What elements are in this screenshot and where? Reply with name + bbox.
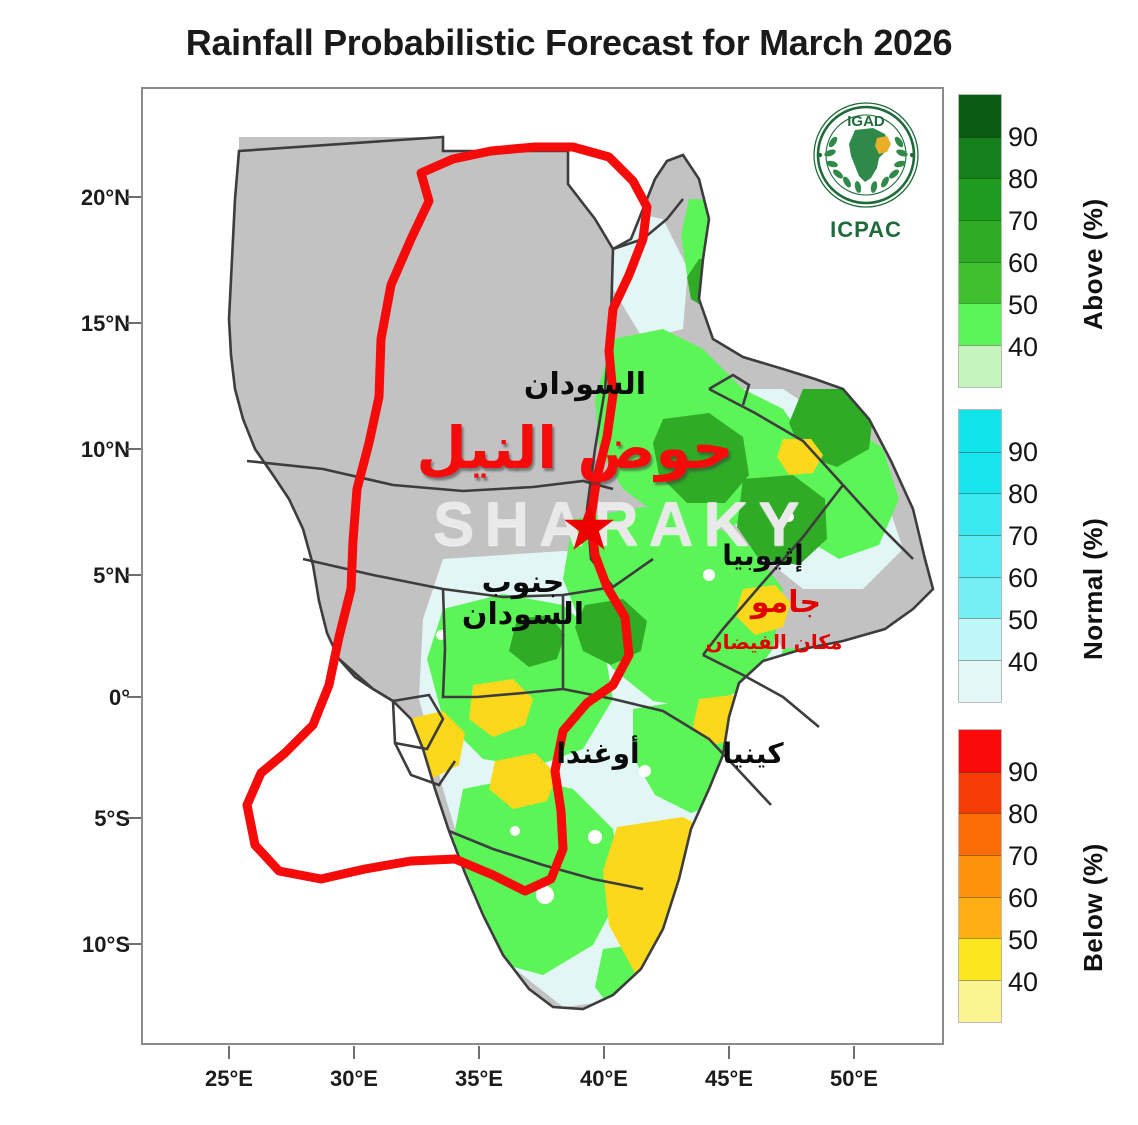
- page-title: Rainfall Probabilistic Forecast for Marc…: [0, 22, 1138, 64]
- y-tick-mark-0: [127, 696, 141, 698]
- x-tick-label-40e: 40°E: [544, 1066, 664, 1092]
- colorbar-normal-band: [959, 660, 1001, 702]
- colorbar-normal-band: [959, 493, 1001, 535]
- x-tick-mark-35e: [478, 1046, 480, 1059]
- x-tick-mark-30e: [353, 1046, 355, 1059]
- colorbar-normal: [958, 409, 1002, 703]
- colorbar-normal-band: [959, 577, 1001, 619]
- x-tick-label-45e: 45°E: [669, 1066, 789, 1092]
- y-tick-label-20n: 20°N: [20, 185, 130, 211]
- colorbar-below-ticks: 90 80 70 60 50 40: [1008, 729, 1068, 1021]
- flood-location-star-icon: [563, 501, 615, 553]
- colorbar-above-tick-80: 80: [1008, 166, 1038, 193]
- colorbar-normal-band: [959, 535, 1001, 577]
- x-tick-mark-45e: [728, 1046, 730, 1059]
- colorbar-above-tick-60: 60: [1008, 250, 1038, 277]
- colorbar-above-ticks: 90 80 70 60 50 40: [1008, 94, 1068, 386]
- y-tick-mark-5n: [127, 574, 141, 576]
- colorbar-above-tick-90: 90: [1008, 124, 1038, 151]
- colorbar-above-tick-50: 50: [1008, 292, 1038, 319]
- colorbar-normal-tick-40: 40: [1008, 649, 1038, 676]
- colorbar-below-tick-50: 50: [1008, 927, 1038, 954]
- colorbar-above-tick-40: 40: [1008, 334, 1038, 361]
- x-tick-label-50e: 50°E: [794, 1066, 914, 1092]
- x-tick-label-35e: 35°E: [419, 1066, 539, 1092]
- watermark-sharaky: SHARAKY: [433, 489, 810, 560]
- igad-seal-icon: IGAD: [811, 100, 921, 210]
- colorbar-normal-title: Normal (%): [1078, 420, 1109, 660]
- colorbar-below-title: Below (%): [1078, 742, 1109, 972]
- colorbar-below-band: [959, 855, 1001, 897]
- colorbar-above-band: [959, 95, 1001, 137]
- colorbar-normal-tick-60: 60: [1008, 565, 1038, 592]
- colorbar-below: [958, 729, 1002, 1023]
- colorbar-below-tick-90: 90: [1008, 759, 1038, 786]
- colorbar-below-tick-70: 70: [1008, 843, 1038, 870]
- y-tick-label-15n: 15°N: [20, 311, 130, 337]
- colorbar-normal-tick-70: 70: [1008, 523, 1038, 550]
- colorbar-below-band: [959, 938, 1001, 980]
- colorbar-above-band: [959, 262, 1001, 304]
- colorbar-above-band: [959, 345, 1001, 387]
- colorbar-normal-ticks: 90 80 70 60 50 40: [1008, 409, 1068, 701]
- colorbar-above-tick-70: 70: [1008, 208, 1038, 235]
- colorbar-below-band: [959, 772, 1001, 814]
- colorbar-normal-band: [959, 618, 1001, 660]
- colorbar-above-title: Above (%): [1078, 110, 1109, 330]
- colorbar-above-band: [959, 178, 1001, 220]
- colorbar-above-band: [959, 137, 1001, 179]
- logo-label-icpac: ICPAC: [806, 217, 926, 243]
- colorbar-normal-tick-50: 50: [1008, 607, 1038, 634]
- colorbar-below-tick-80: 80: [1008, 801, 1038, 828]
- svg-text:IGAD: IGAD: [847, 113, 885, 130]
- x-tick-label-30e: 30°E: [294, 1066, 414, 1092]
- y-tick-label-5n: 5°N: [20, 563, 130, 589]
- colorbar-below-band: [959, 897, 1001, 939]
- y-tick-mark-10n: [127, 448, 141, 450]
- colorbar-below-tick-40: 40: [1008, 969, 1038, 996]
- colorbar-normal-band: [959, 452, 1001, 494]
- colorbar-below-band: [959, 730, 1001, 772]
- y-tick-mark-5s: [127, 817, 141, 819]
- colorbar-above-band: [959, 303, 1001, 345]
- igad-icpac-logo: IGAD ICPAC: [806, 100, 926, 250]
- y-tick-mark-15n: [127, 322, 141, 324]
- y-tick-label-10s: 10°S: [20, 932, 130, 958]
- y-tick-label-10n: 10°N: [20, 437, 130, 463]
- x-tick-mark-40e: [603, 1046, 605, 1059]
- colorbar-below-band: [959, 980, 1001, 1022]
- y-tick-mark-10s: [127, 943, 141, 945]
- y-tick-mark-20n: [127, 196, 141, 198]
- x-tick-mark-50e: [853, 1046, 855, 1059]
- x-tick-label-25e: 25°E: [169, 1066, 289, 1092]
- colorbar-normal-band: [959, 410, 1001, 452]
- x-tick-mark-25e: [228, 1046, 230, 1059]
- colorbar-above: [958, 94, 1002, 388]
- colorbar-below-band: [959, 813, 1001, 855]
- colorbar-below-tick-60: 60: [1008, 885, 1038, 912]
- y-tick-label-0: 0°: [20, 685, 130, 711]
- colorbar-above-band: [959, 220, 1001, 262]
- colorbar-normal-tick-80: 80: [1008, 481, 1038, 508]
- y-tick-label-5s: 5°S: [20, 806, 130, 832]
- colorbar-normal-tick-90: 90: [1008, 439, 1038, 466]
